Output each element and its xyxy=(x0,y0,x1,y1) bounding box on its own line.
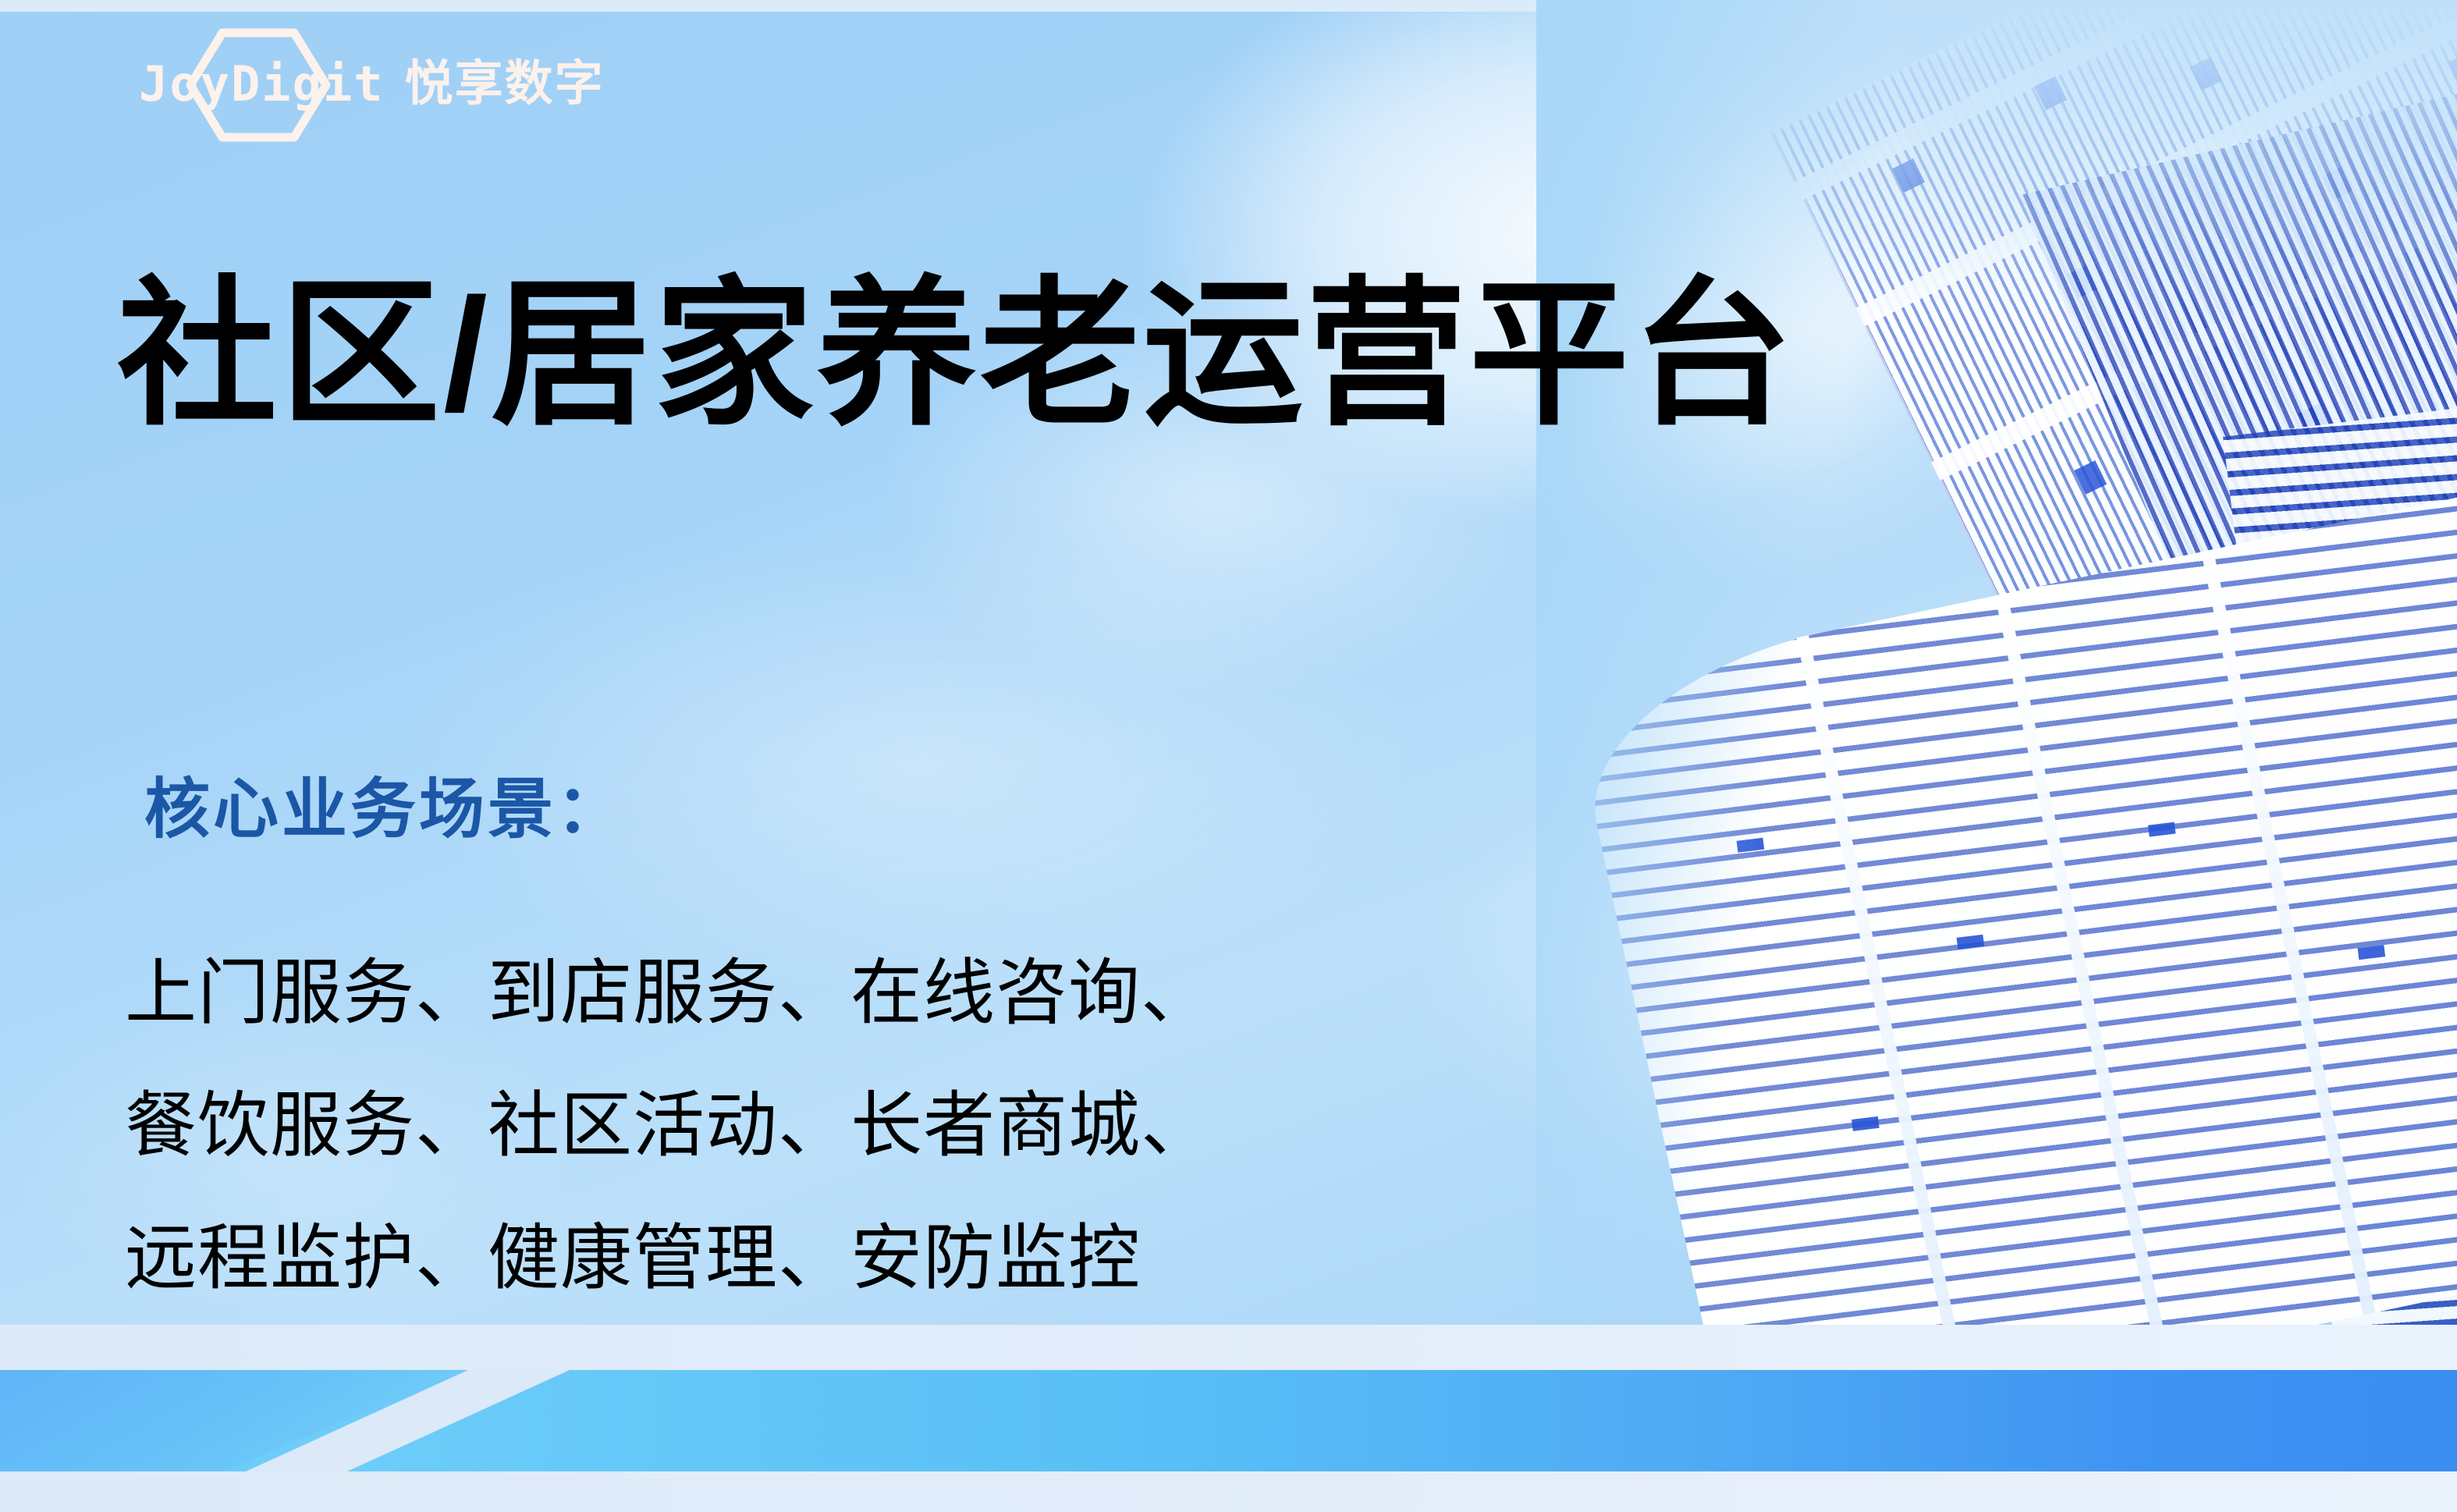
bottom-diagonal-band xyxy=(0,1325,2457,1512)
brand-logo[interactable]: JoyDigit 悦享数字 xyxy=(139,30,605,139)
scenario-line-2: 餐饮服务、社区活动、长者商城、 xyxy=(125,1059,1213,1192)
skyscraper-photo xyxy=(1536,0,2457,1397)
scenario-list: 上门服务、到店服务、在线咨询、 餐饮服务、社区活动、长者商城、 远程监护、健康管… xyxy=(125,927,1213,1325)
slide-canvas: JoyDigit 悦享数字 社区/居家养老运营平台 核心业务场景： 上门服务、到… xyxy=(0,0,2457,1512)
photo-left-fade xyxy=(1536,0,2457,1397)
scenario-line-3: 远程监护、健康管理、安防监控 xyxy=(125,1192,1213,1325)
section-heading: 核心业务场景： xyxy=(144,776,625,842)
logo-cjk-text: 悦享数字 xyxy=(405,60,605,108)
page-title: 社区/居家养老运营平台 xyxy=(117,257,1795,453)
logo-latin-text: JoyDigit xyxy=(139,60,385,108)
scenario-line-1: 上门服务、到店服务、在线咨询、 xyxy=(125,927,1213,1059)
